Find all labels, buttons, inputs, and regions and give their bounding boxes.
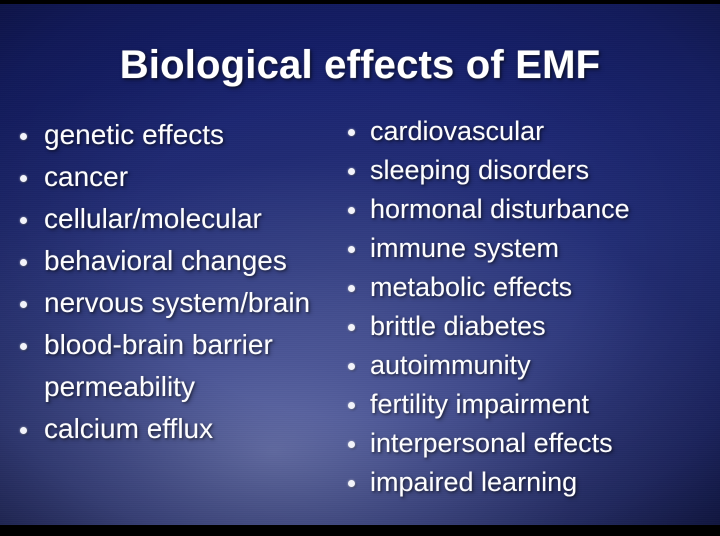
list-item[interactable]: calcium efflux — [14, 412, 364, 454]
list-item[interactable]: brittle diabetes — [344, 310, 720, 349]
bullet-icon — [348, 402, 355, 409]
list-item[interactable]: cellular/molecular — [14, 202, 364, 244]
list-item[interactable]: sleeping disorders — [344, 154, 720, 193]
list-item-label: cellular/molecular — [44, 202, 262, 236]
list-item-label: metabolic effects — [370, 271, 572, 304]
list-item-label: impaired learning — [370, 466, 577, 499]
bullet-icon — [348, 285, 355, 292]
list-item[interactable]: autoimmunity — [344, 349, 720, 388]
bullet-icon — [20, 427, 27, 434]
bullet-icon — [348, 129, 355, 136]
list-item-label: brittle diabetes — [370, 310, 546, 343]
bullet-icon — [20, 259, 27, 266]
list-item[interactable]: interpersonal effects — [344, 427, 720, 466]
list-item[interactable]: metabolic effects — [344, 271, 720, 310]
list-item[interactable]: impaired learning — [344, 466, 720, 505]
list-item-label: interpersonal effects — [370, 427, 613, 460]
bullet-icon — [20, 343, 27, 350]
bullet-list-right: cardiovascular sleeping disorders hormon… — [344, 115, 720, 505]
list-item[interactable]: cancer — [14, 160, 364, 202]
bullet-icon — [20, 301, 27, 308]
list-item[interactable]: nervous system/brain — [14, 286, 364, 328]
letterbox-bar-bottom — [0, 525, 720, 536]
bullet-icon — [348, 480, 355, 487]
list-item-label: cardiovascular — [370, 115, 544, 148]
list-item-label: immune system — [370, 232, 559, 265]
bullet-icon — [20, 217, 27, 224]
bullet-icon — [348, 441, 355, 448]
list-item[interactable]: hormonal disturbance — [344, 193, 720, 232]
bullet-icon-placeholder — [20, 385, 27, 392]
list-item-label: genetic effects — [44, 118, 224, 152]
bullet-icon — [348, 168, 355, 175]
list-item-label: fertility impairment — [370, 388, 589, 421]
letterbox-bar-top — [0, 0, 720, 4]
bullet-icon — [20, 133, 27, 140]
list-item-label: permeability — [44, 370, 195, 404]
bullet-icon — [348, 363, 355, 370]
list-item[interactable]: immune system — [344, 232, 720, 271]
list-item-label: blood-brain barrier — [44, 328, 273, 362]
list-item[interactable]: genetic effects — [14, 118, 364, 160]
bullet-icon — [348, 207, 355, 214]
list-item[interactable]: fertility impairment — [344, 388, 720, 427]
list-item-label: hormonal disturbance — [370, 193, 630, 226]
slide-title: Biological effects of EMF — [0, 41, 720, 89]
presentation-slide: Biological effects of EMF genetic effect… — [0, 0, 720, 536]
list-item-label: autoimmunity — [370, 349, 531, 382]
list-item-label: cancer — [44, 160, 128, 194]
list-item[interactable]: blood-brain barrier — [14, 328, 364, 370]
list-item[interactable]: behavioral changes — [14, 244, 364, 286]
list-item-label: calcium efflux — [44, 412, 213, 446]
bullet-icon — [348, 324, 355, 331]
bullet-list-left: genetic effects cancer cellular/molecula… — [14, 118, 364, 454]
bullet-icon — [20, 175, 27, 182]
list-item-label: sleeping disorders — [370, 154, 589, 187]
list-item-label: nervous system/brain — [44, 286, 310, 320]
bullet-icon — [348, 246, 355, 253]
list-item-label: behavioral changes — [44, 244, 287, 278]
list-item[interactable]: cardiovascular — [344, 115, 720, 154]
list-item-continuation: permeability — [14, 370, 364, 412]
